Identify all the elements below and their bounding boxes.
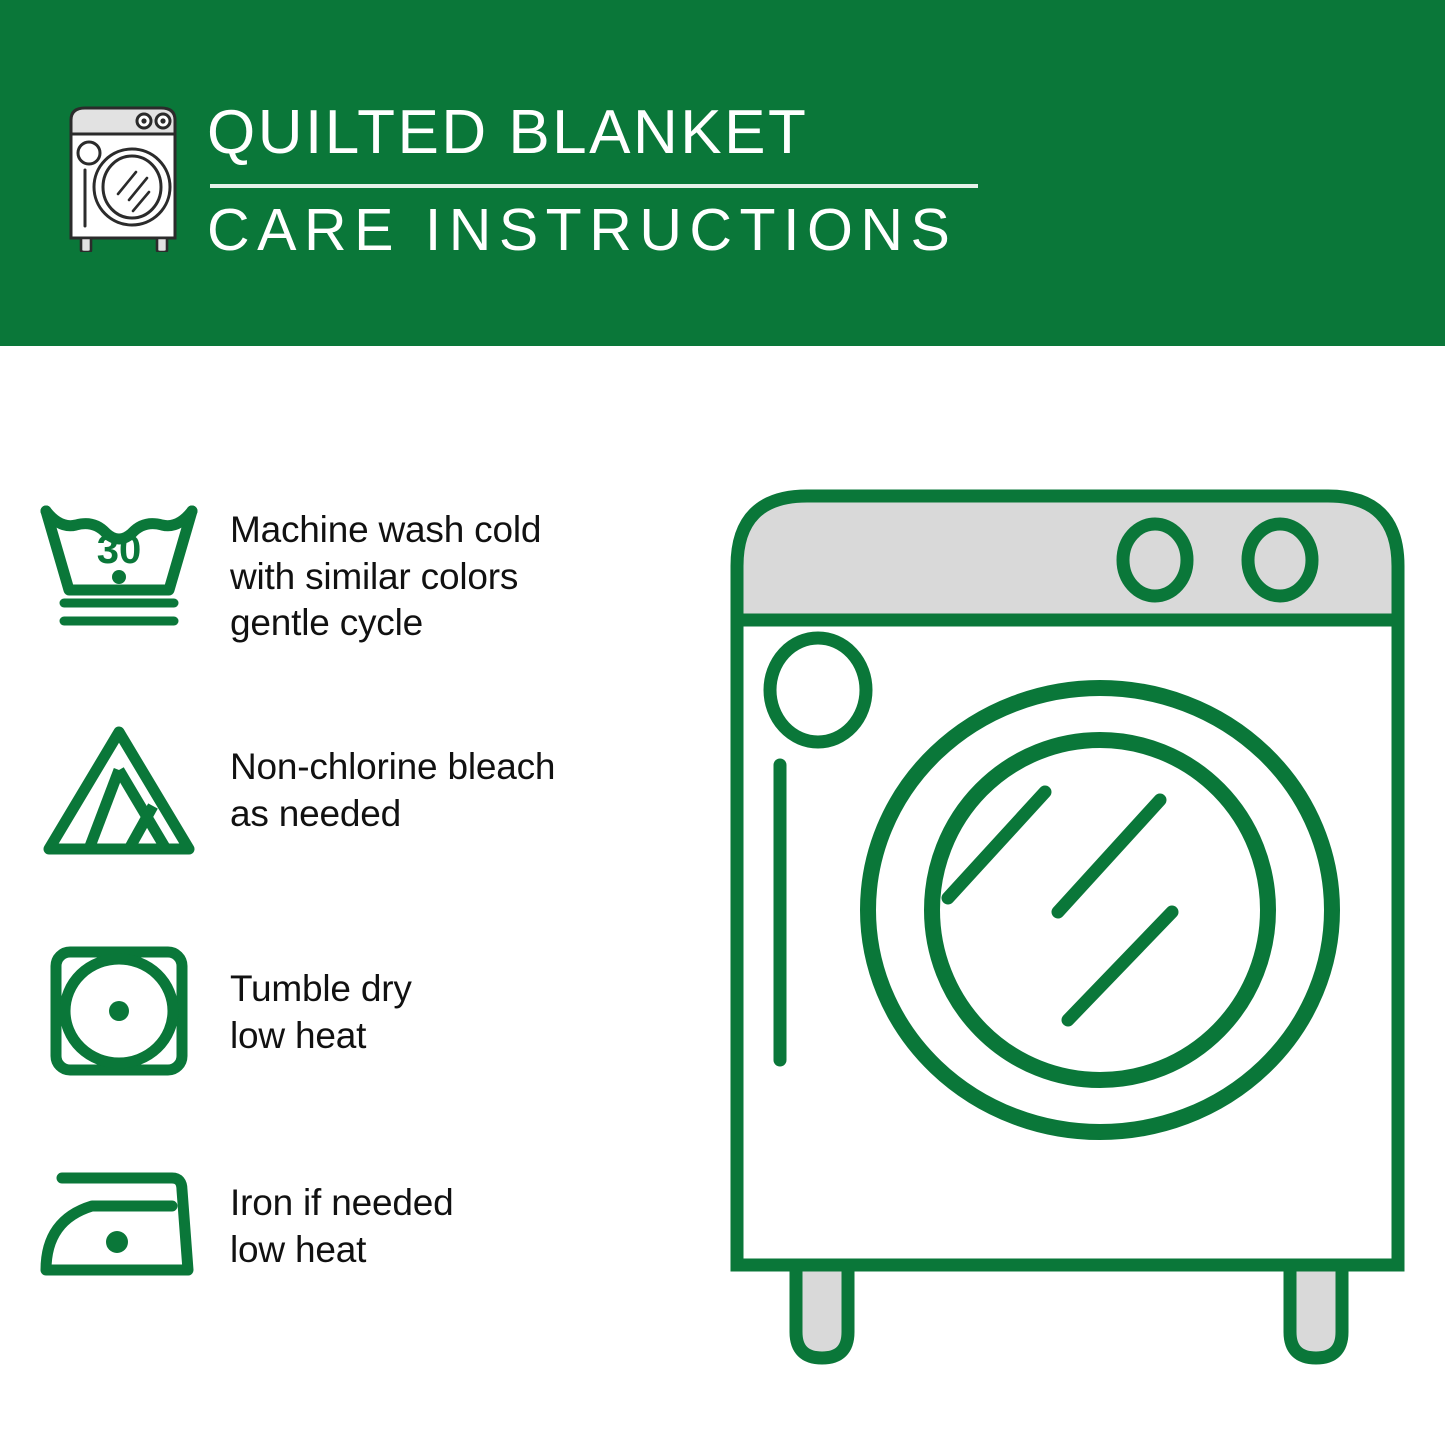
wash-tub-30-gentle-icon: 30 xyxy=(0,495,230,640)
non-chlorine-bleach-triangle-icon xyxy=(0,718,230,863)
care-item-bleach: Non-chlorine bleach as needed xyxy=(0,718,720,863)
washing-machine-icon xyxy=(63,104,189,252)
leg-right xyxy=(1290,1265,1342,1358)
care-item-iron: Iron if needed low heat xyxy=(0,1154,720,1284)
tumble-dry-low-heat-icon xyxy=(0,936,230,1081)
knob-right xyxy=(1248,524,1312,596)
iron-low-heat-icon xyxy=(0,1154,230,1284)
care-item-tumble-dry: Tumble dry low heat xyxy=(0,936,720,1081)
page-title: QUILTED BLANKET xyxy=(207,100,997,165)
knob-left xyxy=(1123,524,1187,596)
care-item-text: Machine wash cold with similar colors ge… xyxy=(230,495,541,647)
care-item-text: Tumble dry low heat xyxy=(230,936,412,1059)
title-divider xyxy=(210,184,978,188)
leg-left xyxy=(796,1265,848,1358)
care-item-text: Non-chlorine bleach as needed xyxy=(230,718,555,837)
detergent-port xyxy=(770,638,866,742)
front-load-washing-machine-illustration xyxy=(700,460,1440,1380)
header-banner: QUILTED BLANKET CARE INSTRUCTIONS xyxy=(0,0,1445,346)
page-subtitle: CARE INSTRUCTIONS xyxy=(207,200,997,262)
care-item-machine-wash: 30 Machine wash cold with similar colors… xyxy=(0,495,720,647)
care-item-text: Iron if needed low heat xyxy=(230,1154,453,1273)
care-instruction-list: 30 Machine wash cold with similar colors… xyxy=(0,346,720,1445)
care-instructions-page: QUILTED BLANKET CARE INSTRUCTIONS 30 xyxy=(0,0,1445,1445)
drum-door-inner-ring xyxy=(932,740,1268,1080)
wash-temperature-label: 30 xyxy=(97,528,142,572)
header-title-group: QUILTED BLANKET CARE INSTRUCTIONS xyxy=(207,100,997,262)
